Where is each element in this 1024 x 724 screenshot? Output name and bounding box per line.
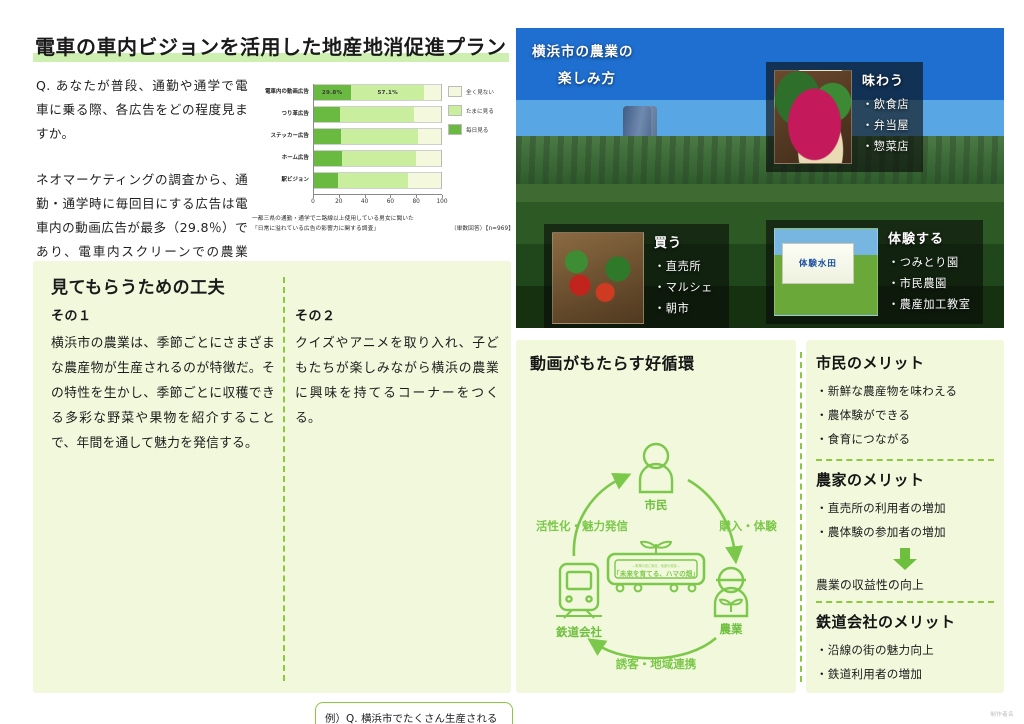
- corner-credit-note: 制作者名: [990, 710, 1014, 718]
- chart-category-label: ホーム広告: [252, 156, 313, 162]
- chart-segment-never: [408, 172, 441, 189]
- chart-segment-never: [416, 150, 441, 167]
- chart-row: 駅ビジョン: [252, 172, 442, 189]
- card-buy-item-1: ・マルシェ: [654, 277, 713, 298]
- idea-2-subheading: その２: [295, 305, 499, 324]
- card-taste-body: 味わう ・飲食店 ・弁当屋 ・惣菜店: [852, 70, 909, 164]
- chart-segment-daily: [313, 150, 342, 167]
- merits-panel: 市民のメリット ・新鮮な農産物を味わえる ・農体験ができる ・食育につながる 農…: [806, 340, 1004, 693]
- panel-vertical-divider: [283, 277, 285, 681]
- chart-tick-label: 0: [311, 199, 315, 205]
- chart-data-label-sometimes: 57.1%: [377, 90, 397, 96]
- down-arrow-glyph: [892, 548, 918, 570]
- cycle-label-citizen: 市民: [645, 498, 668, 512]
- cycle-node-railway: [556, 564, 602, 618]
- collage-title-line1: 横浜市の農業の: [532, 44, 634, 60]
- cycle-arrow-label-revitalize: 活性化・魅力発信: [536, 519, 628, 533]
- chart-segment-daily: [313, 128, 341, 145]
- idea-2-body: クイズやアニメを取り入れ、子どもたちが楽しみながら横浜の農業に興味を持てるコーナ…: [295, 331, 499, 431]
- cycle-arrow-label-purchase: 購入・体験: [718, 519, 777, 533]
- chart-rows: 電車内の動画広告29.8%57.1%つり革広告ステッカー広告ホーム広告駅ビジョン: [252, 84, 442, 194]
- merit-farmers-item-0: ・直売所の利用者の増加: [816, 496, 994, 520]
- card-taste-item-0: ・飲食店: [862, 94, 909, 115]
- idea-column-1: その１ 横浜市の農業は、季節ごとにさまざまな農産物が生産されるのが特徴だ。その特…: [51, 305, 275, 456]
- card-experience-body: 体験する ・つみとり園 ・市民農園 ・農産加工教室: [878, 228, 971, 316]
- yokohama-agriculture-collage: 横浜市の農業の 楽しみ方 味わう ・飲食店 ・弁当屋 ・惣菜店 買う ・直売所 …: [516, 28, 1004, 328]
- signboard-text: 体験水田: [799, 257, 837, 269]
- train-screen-small-text: ―電車の窓に映る、地産の風景―: [632, 563, 681, 568]
- merit-railway-item-0: ・沿線の街の魅力向上: [816, 638, 994, 662]
- merit-divider-2: [816, 601, 994, 603]
- chart-segment-never: [424, 84, 441, 101]
- chart-segment-daily: 29.8%: [313, 84, 351, 101]
- chart-legend-label: たまに見る: [466, 107, 494, 115]
- merit-heading-farmers: 農家のメリット: [816, 469, 994, 490]
- card-buy-item-2: ・朝市: [654, 298, 713, 319]
- idea-1-subheading: その１: [51, 305, 275, 324]
- chart-tick-label: 20: [335, 199, 342, 205]
- chart-note-line2: 「日常に溢れている広告の影響力に関する調査」: [252, 226, 379, 232]
- chart-tick: [313, 195, 314, 198]
- chart-segment-sometimes: [342, 150, 416, 167]
- card-taste-heading: 味わう: [862, 70, 909, 89]
- merit-citizens-item-1: ・農体験ができる: [816, 403, 994, 427]
- quiz-example-box: 例）Q. 横浜市でたくさん生産されるコマツナは次のうちどっち？ A B 正解は、…: [315, 702, 513, 724]
- chart-category-label: 駅ビジョン: [252, 178, 313, 184]
- chart-legend-swatch: [448, 124, 462, 135]
- idea-1-body: 横浜市の農業は、季節ごとにさまざまな農産物が生産されるのが特徴だ。その特性を生か…: [51, 331, 275, 456]
- chart-legend-label: 全く見ない: [466, 88, 494, 96]
- chart-category-label: 電車内の動画広告: [252, 90, 313, 96]
- chart-tick: [390, 195, 391, 198]
- chart-bar-track: 29.8%57.1%: [313, 84, 442, 101]
- card-taste: 味わう ・飲食店 ・弁当屋 ・惣菜店: [766, 62, 923, 172]
- poster-page: 電車の車内ビジョンを活用した地産地消促進プラン Q. あなたが普段、通勤や通学で…: [0, 0, 1024, 724]
- virtuous-cycle-panel: 動画がもたらす好循環 市民 農業: [516, 340, 796, 693]
- card-experience-item-1: ・市民農園: [888, 273, 971, 294]
- chart-note-right: （単数回答）【n=969】: [451, 224, 514, 234]
- card-experience-item-2: ・農産加工教室: [888, 294, 971, 315]
- ideas-heading: 見てもらうための工夫: [51, 273, 225, 298]
- chart-tick: [442, 195, 443, 198]
- chart-tick-label: 100: [436, 199, 447, 205]
- chart-segment-sometimes: [338, 172, 408, 189]
- merit-citizens-item-2: ・食育につながる: [816, 427, 994, 451]
- chart-bar-track: [313, 150, 442, 167]
- chart-segment-never: [418, 128, 441, 145]
- chart-data-label-daily: 29.8%: [322, 90, 342, 96]
- chart-legend-item: たまに見る: [448, 105, 510, 116]
- chart-y-axis: [313, 84, 314, 194]
- chart-row: ホーム広告: [252, 150, 442, 167]
- chart-tick-label: 40: [361, 199, 368, 205]
- card-experience-item-0: ・つみとり園: [888, 252, 971, 273]
- chart-note-line1: 一都三県の通勤・通学で二路線以上使用している男女に聞いた: [252, 214, 514, 224]
- chart-row: つり革広告: [252, 106, 442, 123]
- chart-legend-item: 全く見ない: [448, 86, 510, 97]
- chart-segment-sometimes: 57.1%: [351, 84, 424, 101]
- chart-bar-track: [313, 128, 442, 145]
- card-buy-item-0: ・直売所: [654, 256, 713, 277]
- chart-legend: 全く見ないたまに見る毎日見る: [448, 86, 510, 143]
- card-taste-item-2: ・惣菜店: [862, 136, 909, 157]
- card-experience-photo: 体験水田: [774, 228, 878, 316]
- landmark-tower-shape: [623, 106, 657, 168]
- chart-legend-item: 毎日見る: [448, 124, 510, 135]
- chart-bar-track: [313, 106, 442, 123]
- train-screen-main-text: 「未来を育てる、ハマの畑」: [613, 569, 699, 578]
- card-buy-body: 買う ・直売所 ・マルシェ ・朝市: [644, 232, 713, 324]
- card-buy-photo: [552, 232, 644, 324]
- card-buy-heading: 買う: [654, 232, 713, 251]
- chart-legend-label: 毎日見る: [466, 126, 488, 134]
- chart-tick: [339, 195, 340, 198]
- cycle-diagram: 市民 農業 鉄道会社 購入・体験 誘客・地: [516, 368, 796, 688]
- chart-tick: [416, 195, 417, 198]
- chart-segment-daily: [313, 172, 338, 189]
- page-title: 電車の車内ビジョンを活用した地産地消促進プラン: [33, 31, 509, 62]
- cycle-arrow-purchase: [688, 480, 735, 554]
- ideas-panel: 見てもらうための工夫 その１ 横浜市の農業は、季節ごとにさまざまな農産物が生産さ…: [33, 261, 511, 693]
- cycle-node-citizen: [640, 444, 672, 492]
- chart-bar-track: [313, 172, 442, 189]
- cycle-node-agriculture: [715, 568, 747, 616]
- card-taste-photo: [774, 70, 852, 164]
- survey-question: Q. あなたが普段、通勤や通学で電車に乗る際、各広告をどの程度見ますか。: [36, 74, 248, 146]
- chart-segment-never: [414, 106, 441, 123]
- cycle-label-railway: 鉄道会社: [556, 625, 602, 639]
- merit-down-arrow-icon: [816, 548, 994, 574]
- cycle-merits-divider: [800, 352, 802, 682]
- cycle-label-agriculture: 農業: [720, 622, 743, 636]
- experience-signboard: 体験水田: [782, 243, 853, 284]
- chart-x-axis: 020406080100: [313, 194, 442, 208]
- collage-title-line2: 楽しみ方: [558, 67, 634, 87]
- card-taste-item-1: ・弁当屋: [862, 115, 909, 136]
- chart-tick: [365, 195, 366, 198]
- chart-segment-sometimes: [341, 128, 418, 145]
- merit-heading-citizens: 市民のメリット: [816, 352, 994, 373]
- chart-segment-daily: [313, 106, 340, 123]
- chart-tick-label: 60: [387, 199, 394, 205]
- merit-railway-item-1: ・鉄道利用者の増加: [816, 662, 994, 686]
- cycle-arrow-revitalize: [574, 478, 622, 556]
- cycle-arrow-label-attract: 誘客・地域連携: [616, 657, 697, 671]
- collage-title: 横浜市の農業の 楽しみ方: [532, 40, 634, 87]
- chart-tick-label: 80: [412, 199, 419, 205]
- card-buy: 買う ・直売所 ・マルシェ ・朝市: [544, 224, 729, 328]
- card-experience-heading: 体験する: [888, 228, 971, 247]
- cycle-arrow-attract: [596, 638, 716, 658]
- chart-category-label: つり革広告: [252, 112, 313, 118]
- chart-legend-swatch: [448, 86, 462, 97]
- merit-heading-railway: 鉄道会社のメリット: [816, 611, 994, 632]
- merit-farmers-result: 農業の収益性の向上: [816, 576, 994, 593]
- card-experience: 体験水田 体験する ・つみとり園 ・市民農園 ・農産加工教室: [766, 220, 983, 324]
- merit-divider-1: [816, 459, 994, 461]
- chart-category-label: ステッカー広告: [252, 134, 313, 140]
- chart-row: ステッカー広告: [252, 128, 442, 145]
- quiz-question: 例）Q. 横浜市でたくさん生産されるコマツナは次のうちどっち？: [325, 711, 507, 724]
- chart-row: 電車内の動画広告29.8%57.1%: [252, 84, 442, 101]
- chart-segment-sometimes: [340, 106, 414, 123]
- merit-citizens-item-0: ・新鮮な農産物を味わえる: [816, 379, 994, 403]
- chart-legend-swatch: [448, 105, 462, 116]
- idea-column-2: その２ クイズやアニメを取り入れ、子どもたちが楽しみながら横浜の農業に興味を持て…: [295, 305, 499, 431]
- chart-source-note: 一都三県の通勤・通学で二路線以上使用している男女に聞いた （単数回答）【n=96…: [252, 214, 514, 234]
- merit-farmers-item-1: ・農体験の参加者の増加: [816, 520, 994, 544]
